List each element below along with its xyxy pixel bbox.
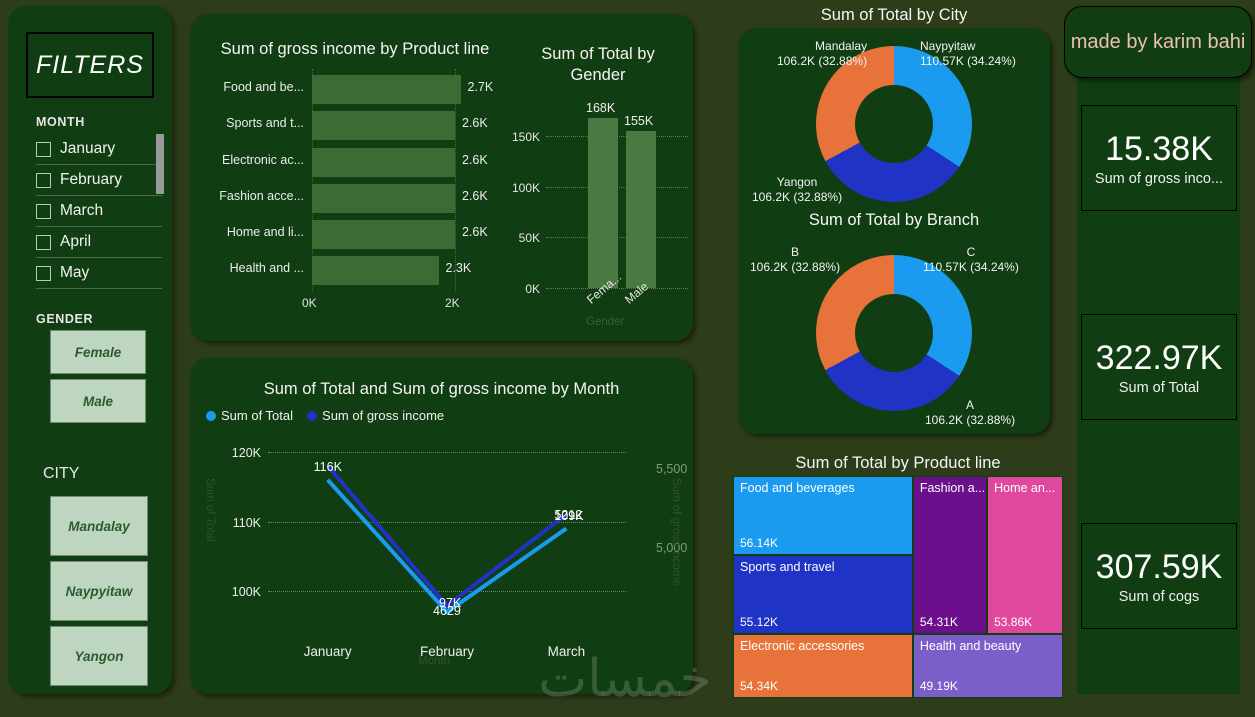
checkbox-icon[interactable] bbox=[36, 142, 51, 157]
kpi-label-total: Sum of Total bbox=[1119, 380, 1199, 396]
checkbox-icon[interactable] bbox=[36, 204, 51, 219]
month-filter-item[interactable]: April bbox=[36, 227, 162, 258]
hbar-value-label: 2.7K bbox=[468, 80, 494, 94]
gender-gridline: 0K bbox=[546, 288, 688, 289]
hbar-bar[interactable] bbox=[312, 184, 455, 213]
hbar-category-label: Electronic ac... bbox=[212, 153, 304, 167]
line-chart-title: Sum of Total and Sum of gross income by … bbox=[190, 380, 693, 399]
treemap-cell-label: Health and beauty bbox=[920, 639, 1021, 653]
city-tile-yangon[interactable]: Yangon bbox=[50, 626, 148, 686]
hbar-value-label: 2.6K bbox=[462, 116, 488, 130]
hbar-row[interactable]: Food and be...2.7K bbox=[212, 72, 502, 108]
treemap-cell-label: Sports and travel bbox=[740, 560, 835, 574]
filters-sidebar: FILTERS MONTH JanuaryFebruaryMarchAprilM… bbox=[8, 6, 172, 694]
legend-dot-sum-of-gross-income bbox=[307, 411, 317, 421]
treemap-cell[interactable]: Food and beverages56.14K bbox=[733, 476, 913, 555]
branch-donut-hole bbox=[855, 294, 933, 372]
gender-ytick-label: 0K bbox=[525, 282, 540, 296]
line-chart-card: Sum of Total and Sum of gross income by … bbox=[190, 358, 693, 694]
line-series-path[interactable] bbox=[328, 480, 567, 612]
line-data-label: 5212 bbox=[554, 508, 582, 522]
line-data-label: 4629 bbox=[433, 604, 461, 618]
treemap-cell-label: Food and beverages bbox=[740, 481, 855, 495]
month-filter-label: February bbox=[60, 171, 122, 189]
branch-donut-chart[interactable] bbox=[816, 255, 972, 411]
legend-item-sum-of-gross-income[interactable]: Sum of gross income bbox=[307, 408, 444, 423]
city-label-yangon: Yangon106.2K (32.88%) bbox=[752, 175, 842, 205]
line-ytick-label: 100K bbox=[232, 585, 261, 599]
treemap-cell-label: Fashion a... bbox=[920, 481, 985, 495]
hbar-bar[interactable] bbox=[312, 111, 455, 140]
treemap-cell-value: 53.86K bbox=[994, 615, 1032, 629]
gender-tile-male[interactable]: Male bbox=[50, 379, 146, 423]
month-filter-label: March bbox=[60, 202, 103, 220]
line-ytick-label: 120K bbox=[232, 446, 261, 460]
gender-bar[interactable] bbox=[588, 118, 618, 288]
gender-ytick-label: 150K bbox=[512, 130, 540, 144]
branch-label-a: A106.2K (32.88%) bbox=[925, 398, 1015, 428]
treemap-title: Sum of Total by Product line bbox=[728, 454, 1068, 473]
product-line-treemap[interactable]: Food and beverages56.14KSports and trave… bbox=[733, 476, 1063, 698]
city-section-label: CITY bbox=[43, 465, 79, 483]
month-filter-label: May bbox=[60, 264, 89, 282]
hbar-row[interactable]: Sports and t...2.6K bbox=[212, 108, 502, 144]
kpi-label-cogs: Sum of cogs bbox=[1119, 589, 1200, 605]
hbar-bar[interactable] bbox=[312, 75, 461, 104]
legend-label-sum-of-total: Sum of Total bbox=[221, 408, 293, 423]
hbar-row[interactable]: Fashion acce...2.6K bbox=[212, 181, 502, 217]
line-xtick-label: January bbox=[304, 644, 352, 659]
hbar-category-label: Sports and t... bbox=[212, 116, 304, 130]
gross-income-bars[interactable]: Food and be...2.7KSports and t...2.6KEle… bbox=[212, 72, 502, 290]
line-series-path[interactable] bbox=[328, 466, 567, 606]
treemap-cell-value: 54.34K bbox=[740, 679, 778, 693]
hbar-xtick-2k: 2K bbox=[445, 296, 460, 310]
month-scrollbar-thumb[interactable] bbox=[156, 134, 164, 194]
branch-donut-title: Sum of Total by Branch bbox=[738, 211, 1050, 230]
gender-ytick-label: 50K bbox=[519, 231, 540, 245]
month-filter-item[interactable]: January bbox=[36, 134, 162, 165]
treemap-cell[interactable]: Fashion a...54.31K bbox=[913, 476, 987, 634]
gender-chart-plot[interactable]: 0K50K100K150K168KFema...155KMale bbox=[546, 106, 688, 288]
hbar-value-label: 2.6K bbox=[462, 189, 488, 203]
bar-charts-card: Sum of gross income by Product line Food… bbox=[190, 14, 693, 341]
branch-label-b: B106.2K (32.88%) bbox=[750, 245, 840, 275]
line-xtick-label: March bbox=[548, 644, 586, 659]
hbar-row[interactable]: Electronic ac...2.6K bbox=[212, 145, 502, 181]
kpi-value-total: 322.97K bbox=[1096, 338, 1223, 378]
gender-axis-name: Gender bbox=[586, 316, 624, 328]
kpi-card-total[interactable]: 322.97K Sum of Total bbox=[1081, 314, 1237, 420]
treemap-cell-label: Electronic accessories bbox=[740, 639, 864, 653]
city-donut-hole bbox=[855, 85, 933, 163]
city-tile-naypyitaw[interactable]: Naypyitaw bbox=[50, 561, 148, 621]
treemap-cell[interactable]: Home an...53.86K bbox=[987, 476, 1063, 634]
checkbox-icon[interactable] bbox=[36, 173, 51, 188]
month-filter-item[interactable]: February bbox=[36, 165, 162, 196]
dashboard-root: FILTERS MONTH JanuaryFebruaryMarchAprilM… bbox=[0, 0, 1255, 717]
checkbox-icon[interactable] bbox=[36, 266, 51, 281]
hbar-category-label: Home and li... bbox=[212, 225, 304, 239]
gender-bar[interactable] bbox=[626, 131, 656, 288]
hbar-bar[interactable] bbox=[312, 148, 455, 177]
city-tile-mandalay[interactable]: Mandalay bbox=[50, 496, 148, 556]
gender-section-label: GENDER bbox=[36, 312, 93, 326]
hbar-bar[interactable] bbox=[312, 220, 455, 249]
line-chart-plot[interactable]: 100K110K120K5,0005,500JanuaryFebruaryMar… bbox=[268, 438, 626, 626]
hbar-row[interactable]: Home and li...2.6K bbox=[212, 217, 502, 253]
month-section-label: MONTH bbox=[36, 115, 85, 129]
treemap-cell-value: 54.31K bbox=[920, 615, 958, 629]
line-chart-y2axis-label: Sum of gross income bbox=[670, 478, 682, 586]
line-chart-xaxis-label: Month bbox=[418, 655, 450, 667]
gross-income-chart-title: Sum of gross income by Product line bbox=[190, 40, 520, 59]
hbar-category-label: Food and be... bbox=[212, 80, 304, 94]
line-data-label: 116K bbox=[314, 460, 342, 474]
line-chart-legend[interactable]: Sum of Total Sum of gross income bbox=[206, 408, 444, 423]
kpi-value-gross-income: 15.38K bbox=[1105, 129, 1213, 169]
gender-tile-female[interactable]: Female bbox=[50, 330, 146, 374]
hbar-category-label: Health and ... bbox=[212, 261, 304, 275]
city-label-naypyitaw: Naypyitaw110.57K (34.24%) bbox=[920, 39, 1016, 69]
checkbox-icon[interactable] bbox=[36, 235, 51, 250]
branch-label-c: C110.57K (34.24%) bbox=[923, 245, 1019, 275]
month-filter-item[interactable]: May bbox=[36, 258, 162, 289]
gender-ytick-label: 100K bbox=[512, 181, 540, 195]
month-filter-label: January bbox=[60, 140, 115, 158]
hbar-xtick-0: 0K bbox=[302, 296, 317, 310]
hbar-row[interactable]: Health and ...2.3K bbox=[212, 253, 502, 289]
hbar-value-label: 2.3K bbox=[446, 261, 472, 275]
legend-item-sum-of-total[interactable]: Sum of Total bbox=[206, 408, 293, 423]
filters-title: FILTERS bbox=[36, 51, 144, 80]
hbar-value-label: 2.6K bbox=[462, 225, 488, 239]
treemap-cell-value: 49.19K bbox=[920, 679, 958, 693]
made-by-card: made by karim bahi bbox=[1064, 6, 1252, 78]
kpi-label-gross-income: Sum of gross inco... bbox=[1095, 171, 1223, 187]
month-filter-item[interactable]: March bbox=[36, 196, 162, 227]
hbar-bar[interactable] bbox=[312, 256, 439, 285]
gender-value-label: 168K bbox=[586, 101, 615, 115]
line-ytick-label: 110K bbox=[233, 516, 261, 530]
hbar-value-label: 2.6K bbox=[462, 153, 488, 167]
line-chart-yaxis-label: Sum of Total bbox=[204, 478, 216, 542]
legend-label-sum-of-gross-income: Sum of gross income bbox=[322, 408, 444, 423]
treemap-cell-value: 56.14K bbox=[740, 536, 778, 550]
filters-title-box: FILTERS bbox=[26, 32, 154, 98]
line-y2tick-label: 5,500 bbox=[656, 462, 687, 476]
treemap-cell[interactable]: Sports and travel55.12K bbox=[733, 555, 913, 634]
treemap-cell[interactable]: Electronic accessories54.34K bbox=[733, 634, 913, 698]
gender-chart-title: Sum of Total by Gender bbox=[514, 44, 682, 86]
made-by-text: made by karim bahi bbox=[1071, 30, 1246, 55]
gender-value-label: 155K bbox=[624, 114, 653, 128]
kpi-value-cogs: 307.59K bbox=[1096, 547, 1223, 587]
city-label-mandalay: Mandalay106.2K (32.88%) bbox=[777, 39, 867, 69]
city-donut-title: Sum of Total by City bbox=[738, 6, 1050, 25]
hbar-category-label: Fashion acce... bbox=[212, 189, 304, 203]
treemap-cell-label: Home an... bbox=[994, 481, 1055, 495]
treemap-cell-value: 55.12K bbox=[740, 615, 778, 629]
treemap-cell[interactable]: Health and beauty49.19K bbox=[913, 634, 1063, 698]
month-filter-list[interactable]: JanuaryFebruaryMarchAprilMay bbox=[36, 134, 162, 289]
month-filter-label: April bbox=[60, 233, 91, 251]
kpi-card-gross-income[interactable]: 15.38K Sum of gross inco... bbox=[1081, 105, 1237, 211]
kpi-card-cogs[interactable]: 307.59K Sum of cogs bbox=[1081, 523, 1237, 629]
legend-dot-sum-of-total bbox=[206, 411, 216, 421]
